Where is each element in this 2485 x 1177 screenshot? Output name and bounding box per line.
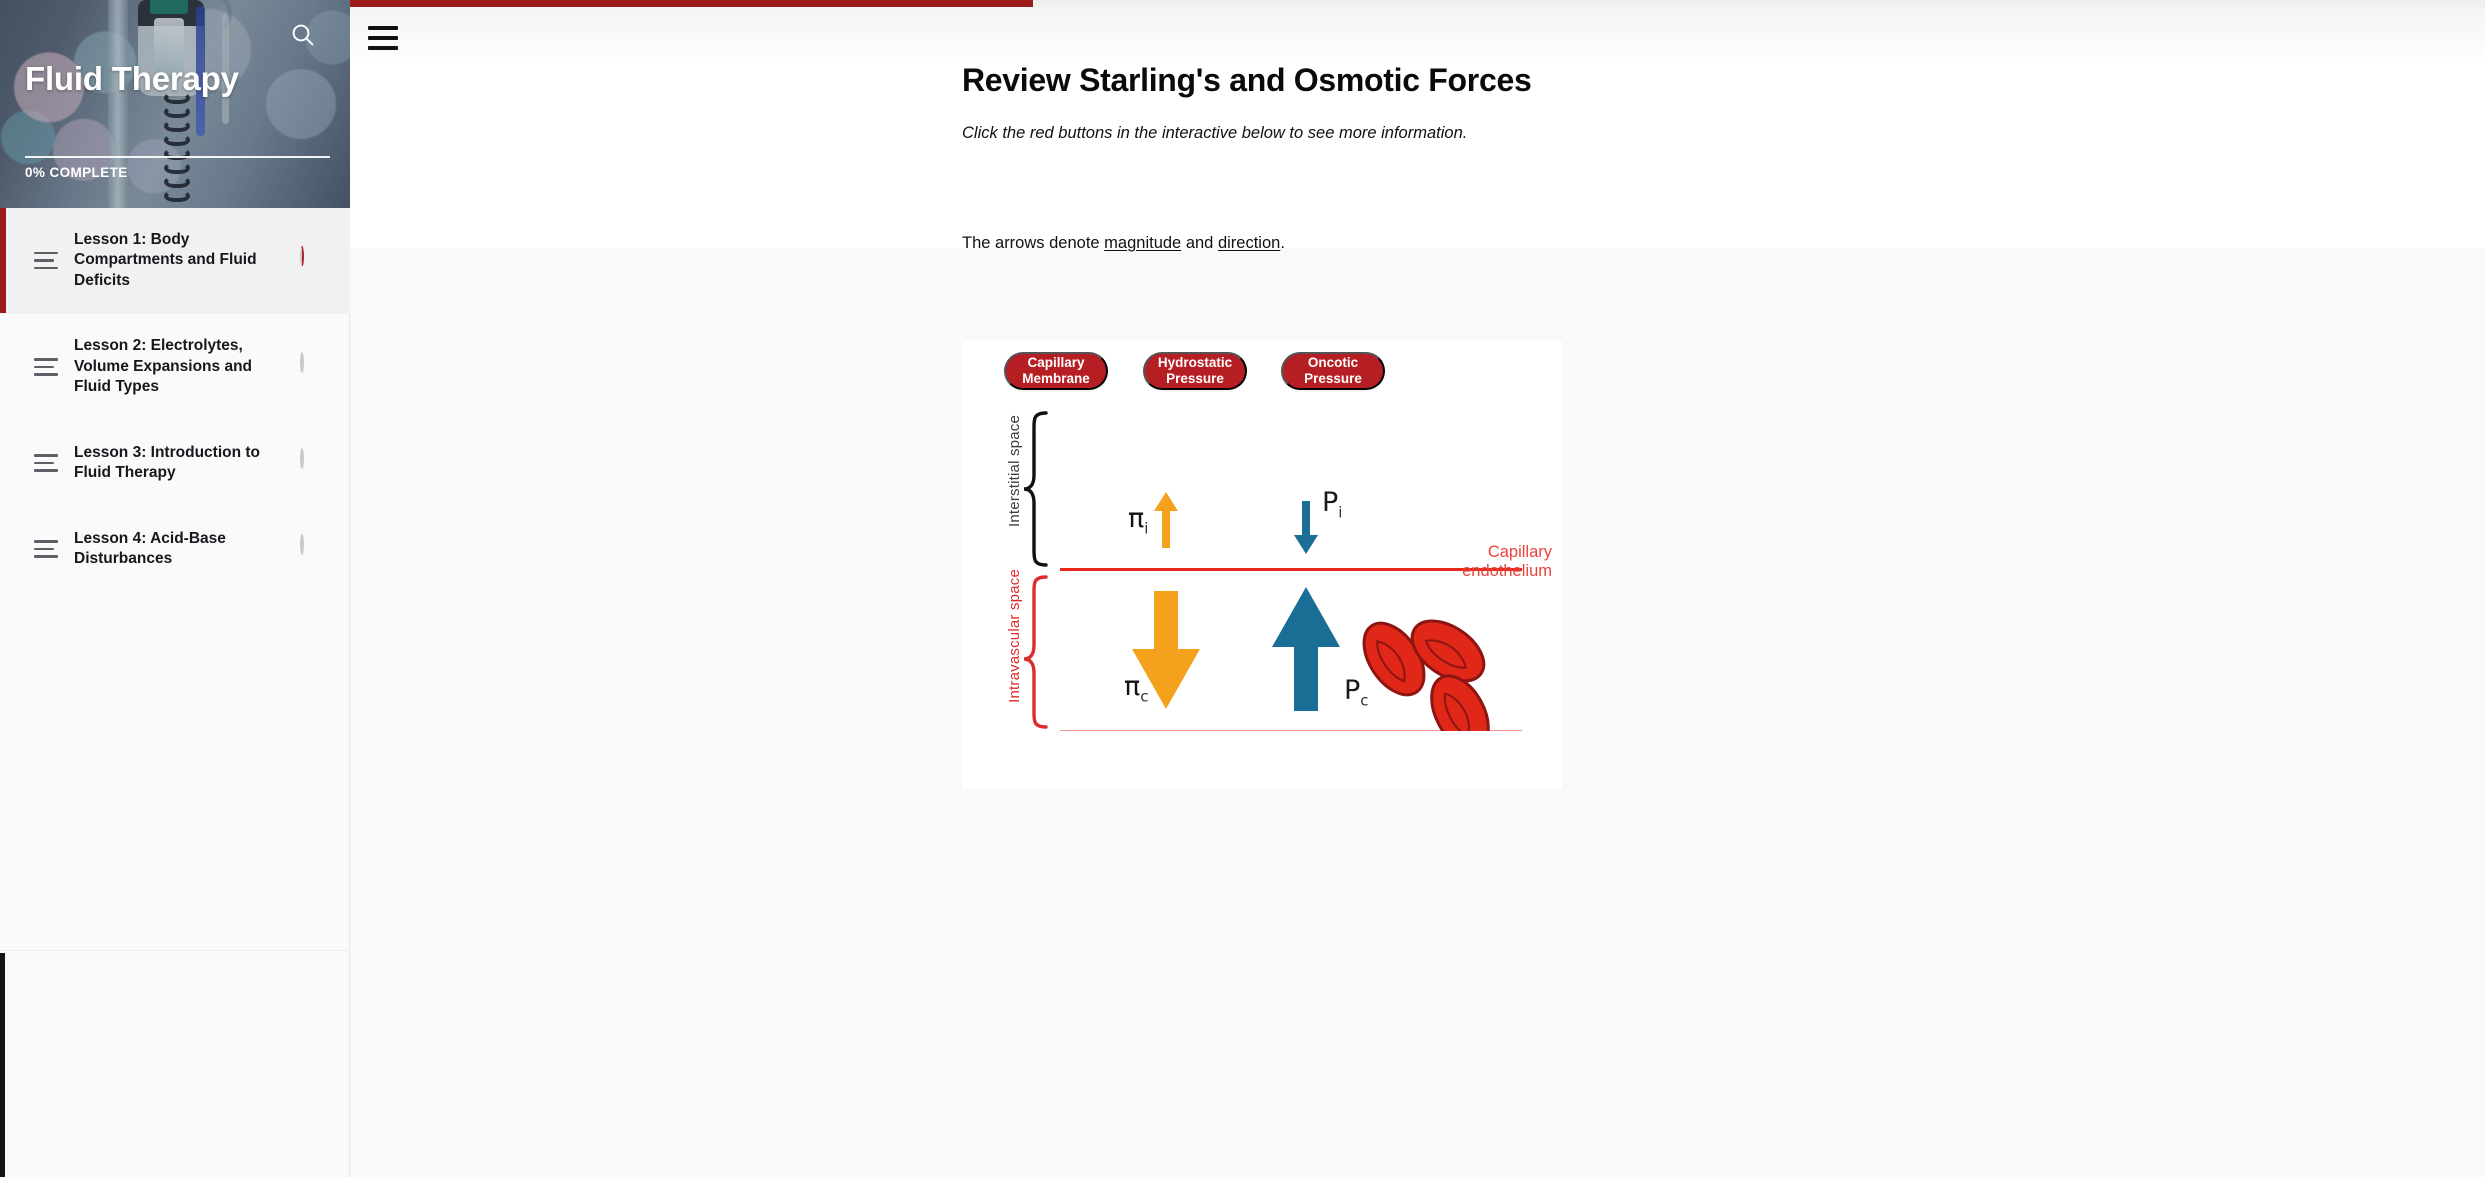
course-sidebar: Fluid Therapy 0% COMPLETE Lesson 1: Body… bbox=[0, 0, 350, 1177]
course-hero-banner: Fluid Therapy 0% COMPLETE bbox=[0, 0, 350, 208]
progress-ring-icon bbox=[300, 246, 304, 267]
lesson-status-not-started bbox=[300, 536, 326, 562]
lesson-status-in-progress bbox=[300, 248, 326, 274]
force-symbol-P-interstitial: Pi bbox=[1322, 489, 1342, 520]
lesson-list: Lesson 1: Body Compartments and Fluid De… bbox=[0, 208, 350, 593]
page-subtitle: Click the red buttons in the interactive… bbox=[962, 124, 1467, 143]
arrow-P-capillary bbox=[1272, 587, 1340, 711]
lesson-status-not-started bbox=[300, 354, 326, 380]
arrow-P-interstitial bbox=[1294, 501, 1318, 554]
search-icon[interactable] bbox=[282, 14, 324, 56]
page-title: Review Starling's and Osmotic Forces bbox=[962, 62, 1531, 99]
hotspot-label-line1: Oncotic bbox=[1308, 355, 1358, 370]
hotspot-button-row: CapillaryMembrane HydrostaticPressure On… bbox=[962, 341, 1562, 401]
empty-ring-icon bbox=[300, 352, 304, 373]
arrows-note-middle: and bbox=[1181, 234, 1218, 252]
empty-ring-icon bbox=[300, 448, 304, 469]
sidebar-item-label: Lesson 2: Electrolytes, Volume Expansion… bbox=[74, 336, 284, 397]
lesson-lines-icon bbox=[34, 454, 58, 472]
hotspot-label-line1: Hydrostatic bbox=[1158, 355, 1232, 370]
sidebar-item-lesson-1[interactable]: Lesson 1: Body Compartments and Fluid De… bbox=[0, 208, 350, 314]
sidebar-item-label: Lesson 3: Introduction to Fluid Therapy bbox=[74, 443, 284, 484]
red-blood-cells bbox=[1352, 609, 1500, 731]
symbol-P-i: Pi bbox=[1322, 489, 1342, 520]
lesson-lines-icon bbox=[34, 252, 58, 270]
lesson-status-not-started bbox=[300, 450, 326, 476]
sidebar-item-label: Lesson 1: Body Compartments and Fluid De… bbox=[74, 230, 284, 291]
direction-link[interactable]: direction bbox=[1218, 234, 1280, 252]
interstitial-space-label: Interstitial space bbox=[1006, 415, 1023, 527]
symbol-pi-c: πc bbox=[1124, 673, 1149, 704]
hotspot-label-line2: Pressure bbox=[1166, 371, 1224, 386]
hotspot-label-line2: Membrane bbox=[1022, 371, 1090, 386]
lesson-lines-icon bbox=[34, 358, 58, 376]
capillary-endothelium-line1: Capillary bbox=[1488, 543, 1552, 561]
interstitial-brace bbox=[1024, 413, 1046, 565]
arrows-note-prefix: The arrows denote bbox=[962, 234, 1104, 252]
sidebar-item-label: Lesson 4: Acid-Base Disturbances bbox=[74, 529, 284, 570]
starling-forces-interactive: CapillaryMembrane HydrostaticPressure On… bbox=[962, 341, 1562, 789]
capillary-diagram: Interstitial space Intravascular space π… bbox=[962, 401, 1562, 731]
hotspot-hydrostatic-pressure-button[interactable]: HydrostaticPressure bbox=[1143, 352, 1247, 390]
sidebar-item-lesson-4[interactable]: Lesson 4: Acid-Base Disturbances bbox=[0, 507, 350, 593]
force-symbol-pi-capillary: πc bbox=[1124, 673, 1149, 704]
main-content: Review Starling's and Osmotic Forces Cli… bbox=[350, 7, 2485, 1177]
symbol-P-c: Pc bbox=[1344, 677, 1369, 708]
sidebar-item-lesson-2[interactable]: Lesson 2: Electrolytes, Volume Expansion… bbox=[0, 314, 350, 420]
course-progress-label: 0% COMPLETE bbox=[25, 165, 128, 180]
sidebar-divider bbox=[0, 950, 350, 951]
arrow-pi-interstitial bbox=[1154, 492, 1178, 548]
hotspot-oncotic-pressure-button[interactable]: OncoticPressure bbox=[1281, 352, 1385, 390]
sidebar-item-lesson-3[interactable]: Lesson 3: Introduction to Fluid Therapy bbox=[0, 421, 350, 507]
empty-ring-icon bbox=[300, 534, 304, 555]
hamburger-menu-icon[interactable] bbox=[368, 19, 412, 57]
hotspot-label-line1: Capillary bbox=[1027, 355, 1084, 370]
sidebar-scrollbar[interactable] bbox=[0, 953, 5, 1177]
capillary-endothelium-label: Capillary endothelium bbox=[1462, 543, 1552, 582]
symbol-pi-i: πi bbox=[1128, 505, 1148, 536]
arrows-note: The arrows denote magnitude and directio… bbox=[962, 234, 1285, 253]
force-symbol-P-capillary: Pc bbox=[1344, 677, 1369, 708]
intravascular-space-label: Intravascular space bbox=[1006, 569, 1023, 703]
course-progress-track bbox=[25, 156, 330, 158]
page-root: Fluid Therapy 0% COMPLETE Lesson 1: Body… bbox=[0, 0, 2485, 1177]
lesson-lines-icon bbox=[34, 540, 58, 558]
intravascular-brace bbox=[1024, 577, 1046, 727]
magnitude-link[interactable]: magnitude bbox=[1104, 234, 1181, 252]
force-symbol-pi-interstitial: πi bbox=[1128, 505, 1148, 536]
lesson-progress-fill bbox=[350, 0, 1033, 7]
hotspot-capillary-membrane-button[interactable]: CapillaryMembrane bbox=[1004, 352, 1108, 390]
hotspot-label-line2: Pressure bbox=[1304, 371, 1362, 386]
course-title: Fluid Therapy bbox=[25, 60, 239, 98]
arrows-note-suffix: . bbox=[1280, 234, 1285, 252]
capillary-endothelium-line2: endothelium bbox=[1462, 562, 1552, 580]
